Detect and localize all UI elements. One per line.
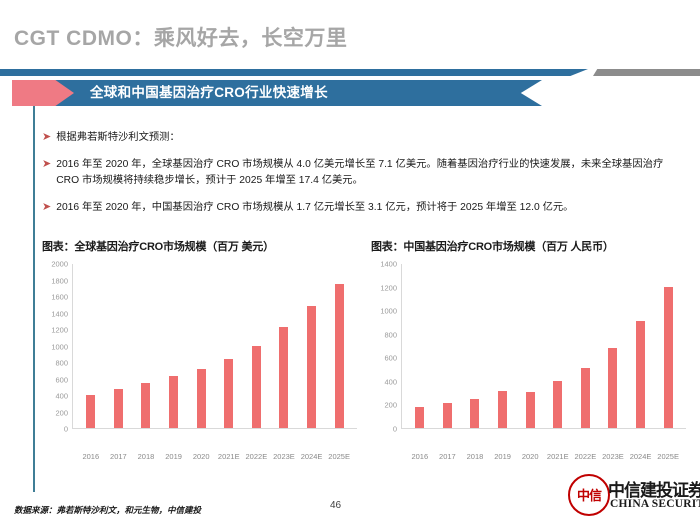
- section-banner: 全球和中国基因治疗CRO行业快速增长: [0, 80, 550, 106]
- y-axis: 1400120010008006004002000: [371, 264, 401, 429]
- x-axis-tick: 2019: [161, 452, 187, 461]
- bar: [307, 306, 316, 428]
- chart-china-gene-therapy-cro: 图表：中国基因治疗CRO市场规模（百万 人民币） 140012001000800…: [371, 238, 686, 461]
- seal-icon: 中信: [568, 474, 610, 516]
- y-axis-tick: 800: [55, 359, 68, 368]
- x-axis-tick: 2016: [407, 452, 433, 461]
- bar: [224, 359, 233, 428]
- header-rule-blue: [0, 69, 588, 76]
- y-axis-tick: 200: [384, 401, 397, 410]
- y-axis-tick: 1400: [51, 309, 68, 318]
- bullet-arrow-icon: ➤: [42, 157, 51, 172]
- bar: [553, 381, 562, 428]
- x-axis-tick: 2018: [133, 452, 159, 461]
- x-axis-tick: 2025E: [655, 452, 681, 461]
- y-axis-tick: 0: [64, 425, 68, 434]
- y-axis-tick: 1000: [51, 342, 68, 351]
- left-accent-line: [33, 106, 35, 492]
- bar: [197, 369, 206, 428]
- x-axis-tick: 2025E: [326, 452, 352, 461]
- y-axis-tick: 1400: [380, 260, 397, 269]
- plot-area: [401, 264, 686, 429]
- company-logo: 中信 中信建投证券 CHINA SECURITIES: [568, 472, 694, 518]
- y-axis-tick: 800: [384, 330, 397, 339]
- logo-english-name: CHINA SECURITIES: [610, 498, 700, 510]
- y-axis-tick: 2000: [51, 260, 68, 269]
- y-axis-tick: 600: [384, 354, 397, 363]
- x-axis-tick: 2018: [462, 452, 488, 461]
- list-item: ➤ 根据弗若斯特沙利文预测：: [42, 130, 682, 146]
- x-axis-tick: 2023E: [600, 452, 626, 461]
- x-axis-tick: 2017: [434, 452, 460, 461]
- x-axis-tick: 2020: [517, 452, 543, 461]
- x-axis: 201620172018201920202021E2022E2023E2024E…: [73, 449, 357, 461]
- x-axis-tick: 2021E: [545, 452, 571, 461]
- page-title: CGT CDMO：乘风好去，长空万里: [14, 22, 347, 52]
- x-axis-tick: 2020: [188, 452, 214, 461]
- list-item: ➤ 2016 年至 2020 年，中国基因治疗 CRO 市场规模从 1.7 亿元…: [42, 200, 682, 216]
- x-axis-tick: 2022E: [572, 452, 598, 461]
- bar: [415, 407, 424, 428]
- bullet-arrow-icon: ➤: [42, 130, 51, 145]
- x-axis-tick: 2016: [78, 452, 104, 461]
- bar: [636, 321, 645, 428]
- chart-title: 图表：中国基因治疗CRO市场规模（百万 人民币）: [371, 238, 686, 254]
- y-axis-tick: 600: [55, 375, 68, 384]
- x-axis-tick: 2023E: [271, 452, 297, 461]
- chart-plot: 1400120010008006004002000: [371, 264, 686, 449]
- bar: [86, 395, 95, 428]
- seal-text: 中信: [577, 489, 601, 502]
- bar: [664, 287, 673, 428]
- charts-container: 图表：全球基因治疗CRO市场规模（百万 美元） 2000180016001400…: [42, 238, 686, 461]
- bar: [335, 284, 344, 428]
- source-note: 数据来源：弗若斯特沙利文，和元生物，中信建投: [14, 504, 201, 516]
- y-axis-tick: 1000: [380, 307, 397, 316]
- y-axis-tick: 1600: [51, 293, 68, 302]
- chart-title: 图表：全球基因治疗CRO市场规模（百万 美元）: [42, 238, 357, 254]
- header-rule-gray: [593, 69, 700, 76]
- chart-plot: 2000180016001400120010008006004002000: [42, 264, 357, 449]
- bar: [114, 389, 123, 428]
- bullet-text: 根据弗若斯特沙利文预测：: [56, 130, 180, 146]
- bullet-list: ➤ 根据弗若斯特沙利文预测： ➤ 2016 年至 2020 年，全球基因治疗 C…: [42, 130, 682, 227]
- bar: [526, 392, 535, 428]
- bar: [443, 403, 452, 428]
- page-number: 46: [330, 500, 341, 511]
- bar: [498, 391, 507, 428]
- y-axis-tick: 1200: [51, 326, 68, 335]
- bullet-arrow-icon: ➤: [42, 200, 51, 215]
- x-axis-tick: 2024E: [299, 452, 325, 461]
- bar: [470, 399, 479, 428]
- x-axis-tick: 2017: [105, 452, 131, 461]
- y-axis-tick: 400: [384, 377, 397, 386]
- slide-root: CGT CDMO：乘风好去，长空万里 全球和中国基因治疗CRO行业快速增长 ➤ …: [0, 0, 700, 525]
- bar: [608, 348, 617, 428]
- chart-global-gene-therapy-cro: 图表：全球基因治疗CRO市场规模（百万 美元） 2000180016001400…: [42, 238, 357, 461]
- x-axis-tick: 2021E: [216, 452, 242, 461]
- bar: [169, 376, 178, 428]
- y-axis-tick: 1200: [380, 283, 397, 292]
- list-item: ➤ 2016 年至 2020 年，全球基因治疗 CRO 市场规模从 4.0 亿美…: [42, 157, 682, 189]
- bar: [252, 346, 261, 428]
- plot-area: [72, 264, 357, 429]
- banner-title: 全球和中国基因治疗CRO行业快速增长: [90, 80, 328, 106]
- y-axis-tick: 200: [55, 408, 68, 417]
- x-axis-tick: 2024E: [628, 452, 654, 461]
- bar: [141, 383, 150, 428]
- x-axis-tick: 2022E: [243, 452, 269, 461]
- bar: [581, 368, 590, 428]
- bar: [279, 327, 288, 428]
- bullet-text: 2016 年至 2020 年，中国基因治疗 CRO 市场规模从 1.7 亿元增长…: [56, 200, 573, 216]
- y-axis-tick: 0: [393, 425, 397, 434]
- x-axis-tick: 2019: [490, 452, 516, 461]
- x-axis: 201620172018201920202021E2022E2023E2024E…: [402, 449, 686, 461]
- y-axis-tick: 1800: [51, 276, 68, 285]
- y-axis-tick: 400: [55, 392, 68, 401]
- bullet-text: 2016 年至 2020 年，全球基因治疗 CRO 市场规模从 4.0 亿美元增…: [56, 157, 682, 189]
- y-axis: 2000180016001400120010008006004002000: [42, 264, 72, 429]
